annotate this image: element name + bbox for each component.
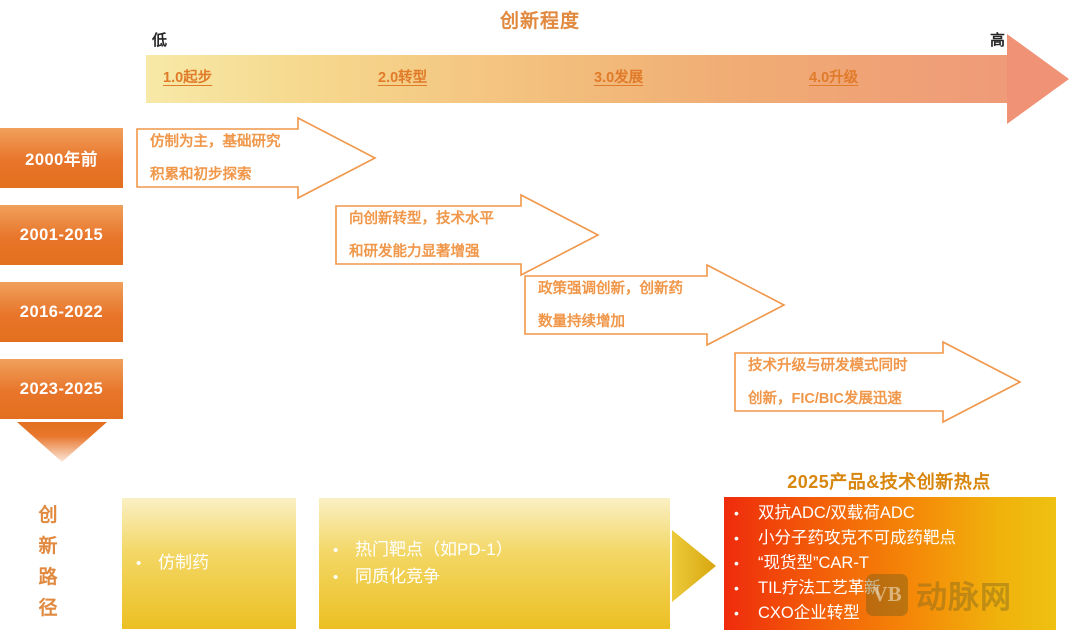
axis-stage-4: 4.0升级 bbox=[809, 66, 858, 87]
stage-arrow-4: 技术升级与研发模式同时创新，FIC/BIC发展迅速 bbox=[734, 341, 1021, 423]
stage-arrow-text-2: 向创新转型，技术水平和研发能力显著增强 bbox=[349, 203, 494, 269]
path-box-item: •仿制药 bbox=[136, 550, 282, 577]
infographic-canvas: 创新程度 低 高 1.0起步2.0转型3.0发展4.0升级 2000年前2001… bbox=[0, 0, 1080, 632]
bullet-dot-icon: • bbox=[734, 501, 758, 526]
path-box-item-label: 热门靶点（如PD-1） bbox=[355, 537, 513, 563]
stage-arrow-text-line: 创新，FIC/BIC发展迅速 bbox=[748, 383, 908, 416]
path-box-item: •同质化竞争 bbox=[333, 564, 656, 591]
bullet-dot-icon: • bbox=[734, 576, 758, 601]
axis-arrowhead-icon bbox=[1007, 34, 1069, 124]
bullet-dot-icon: • bbox=[734, 526, 758, 551]
innovation-path-label-char: 创 bbox=[34, 500, 62, 531]
stage-arrow-text-line: 积累和初步探索 bbox=[150, 159, 281, 192]
stage-arrow-text-4: 技术升级与研发模式同时创新，FIC/BIC发展迅速 bbox=[748, 350, 908, 416]
axis-stage-2: 2.0转型 bbox=[378, 66, 427, 87]
axis-high-label: 高 bbox=[990, 29, 1005, 50]
hotspot-item: •双抗ADC/双载荷ADC bbox=[734, 501, 1046, 526]
era-block-4: 2023-2025 bbox=[0, 359, 123, 419]
hotspot-item: •小分子药攻克不可成药靶点 bbox=[734, 526, 1046, 551]
innovation-path-label: 创新路径 bbox=[34, 500, 62, 624]
bullet-dot-icon: • bbox=[734, 601, 758, 626]
stage-arrow-text-3: 政策强调创新，创新药数量持续增加 bbox=[538, 273, 683, 339]
stage-arrow-text-line: 和研发能力显著增强 bbox=[349, 236, 494, 269]
stage-arrow-text-line: 技术升级与研发模式同时 bbox=[748, 350, 908, 383]
hotspot-item: •TIL疗法工艺革新 bbox=[734, 576, 1046, 601]
hotspot-item: •CXO企业转型 bbox=[734, 601, 1046, 626]
stage-arrow-3: 政策强调创新，创新药数量持续增加 bbox=[524, 264, 785, 346]
innovation-path-label-char: 路 bbox=[34, 562, 62, 593]
hotspot-item-label: 小分子药攻克不可成药靶点 bbox=[758, 526, 956, 551]
path-box-item: •热门靶点（如PD-1） bbox=[333, 537, 656, 564]
hotspot-item: •“现货型”CAR-T bbox=[734, 551, 1046, 576]
path-gold-arrow-icon bbox=[672, 530, 716, 602]
era-block-1: 2000年前 bbox=[0, 128, 123, 188]
axis-low-label: 低 bbox=[152, 29, 167, 50]
path-box-1: •仿制药 bbox=[122, 498, 296, 629]
path-box-item-label: 仿制药 bbox=[158, 550, 209, 576]
stage-arrow-text-1: 仿制为主，基础研究积累和初步探索 bbox=[150, 126, 281, 192]
axis-stage-1: 1.0起步 bbox=[163, 66, 212, 87]
hotspot-title: 2025产品&技术创新热点 bbox=[724, 468, 1054, 494]
hotspot-box: •双抗ADC/双载荷ADC•小分子药攻克不可成药靶点•“现货型”CAR-T•TI… bbox=[724, 497, 1056, 630]
hotspot-item-label: TIL疗法工艺革新 bbox=[758, 576, 881, 601]
stage-arrow-text-line: 向创新转型，技术水平 bbox=[349, 203, 494, 236]
stage-arrow-text-line: 数量持续增加 bbox=[538, 306, 683, 339]
hotspot-item-label: “现货型”CAR-T bbox=[758, 551, 869, 576]
stage-arrow-text-line: 仿制为主，基础研究 bbox=[150, 126, 281, 159]
era-block-2: 2001-2015 bbox=[0, 205, 123, 265]
hotspot-item-label: CXO企业转型 bbox=[758, 601, 860, 626]
path-box-item-label: 同质化竞争 bbox=[355, 564, 440, 590]
axis-stage-3: 3.0发展 bbox=[594, 66, 643, 87]
bullet-dot-icon: • bbox=[136, 551, 158, 577]
bullet-dot-icon: • bbox=[333, 538, 355, 564]
stage-arrow-text-line: 政策强调创新，创新药 bbox=[538, 273, 683, 306]
innovation-axis-bar bbox=[146, 55, 1011, 103]
hotspot-item-label: 双抗ADC/双载荷ADC bbox=[758, 501, 915, 526]
timeline-down-arrow-icon bbox=[17, 422, 107, 462]
path-box-2: •热门靶点（如PD-1）•同质化竞争 bbox=[319, 498, 670, 629]
bullet-dot-icon: • bbox=[333, 565, 355, 591]
innovation-path-label-char: 新 bbox=[34, 531, 62, 562]
bullet-dot-icon: • bbox=[734, 551, 758, 576]
era-block-3: 2016-2022 bbox=[0, 282, 123, 342]
innovation-path-label-char: 径 bbox=[34, 593, 62, 624]
stage-arrow-1: 仿制为主，基础研究积累和初步探索 bbox=[136, 117, 376, 199]
